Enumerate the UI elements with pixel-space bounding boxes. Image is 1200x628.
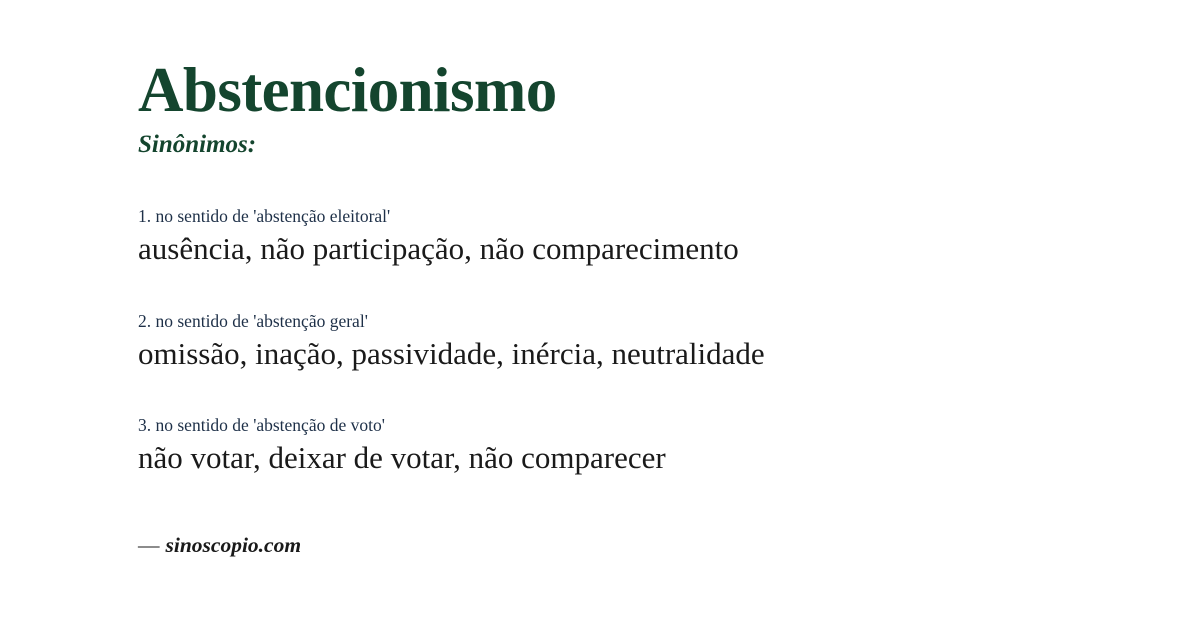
sense-block: 3. no sentido de 'abstenção de voto' não… — [138, 415, 1160, 478]
sense-block: 1. no sentido de 'abstenção eleitoral' a… — [138, 206, 1160, 269]
sense-synonyms: ausência, não participação, não comparec… — [138, 230, 1160, 269]
source-credit: —sinoscopio.com — [138, 533, 301, 559]
sense-label: 3. no sentido de 'abstenção de voto' — [138, 415, 1160, 437]
sense-block: 2. no sentido de 'abstenção geral' omiss… — [138, 311, 1160, 374]
sense-label: 1. no sentido de 'abstenção eleitoral' — [138, 206, 1160, 228]
sense-synonyms: não votar, deixar de votar, não comparec… — [138, 439, 1160, 478]
em-dash-icon: — — [138, 533, 166, 557]
sense-synonyms: omissão, inação, passividade, inércia, n… — [138, 335, 1160, 374]
card-footer: —sinoscopio.com — [138, 533, 301, 559]
page-title: Abstencionismo — [138, 58, 1160, 122]
sense-list: 1. no sentido de 'abstenção eleitoral' a… — [138, 206, 1160, 478]
synonym-card: Abstencionismo Sinônimos: 1. no sentido … — [0, 0, 1200, 628]
sense-label: 2. no sentido de 'abstenção geral' — [138, 311, 1160, 333]
card-header: Abstencionismo Sinônimos: — [138, 58, 1160, 160]
source-name: sinoscopio.com — [166, 533, 302, 557]
section-subtitle: Sinônimos: — [138, 130, 1160, 160]
